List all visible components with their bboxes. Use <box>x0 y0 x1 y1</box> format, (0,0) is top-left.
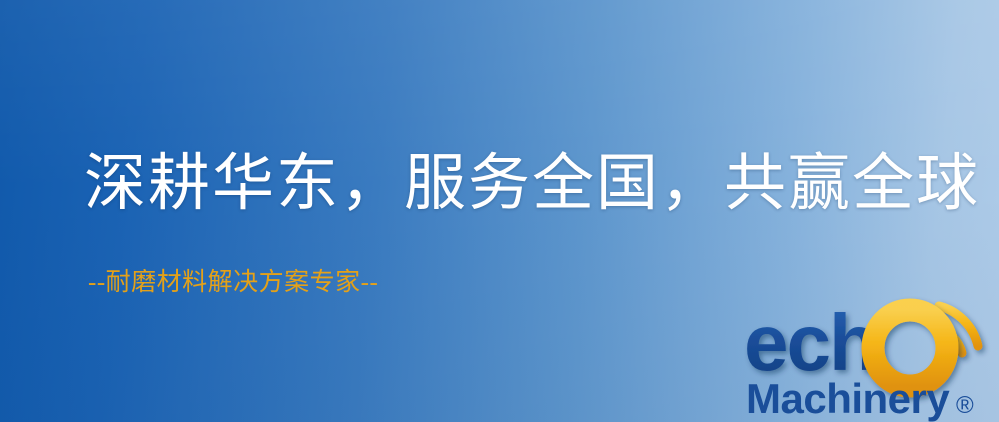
logo-artwork: ech Machinery ® <box>744 296 999 422</box>
logo-wordmark-blue: ech <box>744 298 876 387</box>
logo-machinery-text: Machinery <box>746 375 950 422</box>
banner-subtitle: --耐磨材料解决方案专家-- <box>88 268 378 298</box>
logo-tagline-group: Machinery ® <box>746 375 974 422</box>
logo-ech-text: ech <box>744 298 876 387</box>
registered-mark: ® <box>956 392 974 419</box>
banner-headline: 深耕华东，服务全国，共赢全球 <box>84 152 980 217</box>
hero-banner: 深耕华东，服务全国，共赢全球 --耐磨材料解决方案专家-- <box>0 0 999 422</box>
echo-machinery-logo[interactable]: ech Machinery ® <box>744 296 999 422</box>
